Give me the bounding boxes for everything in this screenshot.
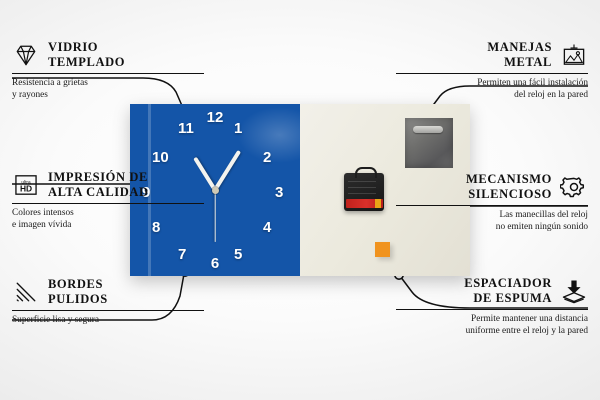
metal-hanger-plate [405, 118, 453, 168]
svg-text:HD: HD [20, 183, 32, 193]
mechanism-yellow-tab [375, 199, 381, 208]
clock-numeral: 5 [234, 247, 242, 262]
mechanism-detail [348, 180, 376, 194]
mechanism-hook [355, 167, 377, 178]
feature-manejas-metal: MANEJAS METAL Permiten una fácil instala… [396, 40, 588, 102]
feature-title: VIDRIO TEMPLADO [48, 40, 125, 70]
foam-spacer-arrow-icon [560, 278, 588, 304]
clock-numeral: 4 [263, 220, 271, 235]
gear-icon [560, 174, 588, 200]
clock-minute-hand [213, 150, 241, 191]
feature-bordes-pulidos: BORDES PULIDOS Superficie lisa y segura [12, 277, 204, 326]
feature-title: MECANISMO SILENCIOSO [466, 172, 552, 202]
clock-numeral: 12 [207, 110, 224, 125]
feature-description: Las manecillas del reloj no emiten ningú… [396, 206, 588, 234]
ultra-hd-badge-icon: ultra HD [12, 172, 40, 198]
clock-center-cap [212, 187, 219, 194]
clock-numeral: 6 [211, 256, 219, 271]
feature-title: ESPACIADOR DE ESPUMA [464, 276, 552, 306]
diamond-icon [12, 42, 40, 68]
clock-numeral: 2 [263, 150, 271, 165]
clock-numeral: 10 [152, 150, 169, 165]
clock-numeral: 7 [178, 247, 186, 262]
feature-impresion-alta-calidad: ultra HD IMPRESIÓN DE ALTA CALIDAD Color… [12, 170, 204, 232]
feature-mecanismo-silencioso: MECANISMO SILENCIOSO Las manecillas del … [396, 172, 588, 234]
clock-numeral: 3 [275, 185, 283, 200]
clock-second-hand [214, 190, 215, 242]
feature-title: IMPRESIÓN DE ALTA CALIDAD [48, 170, 149, 200]
feature-espaciador-espuma: ESPACIADOR DE ESPUMA Permite mantener un… [396, 276, 588, 338]
feature-description: Permiten una fácil instalación del reloj… [396, 74, 588, 102]
feature-title: MANEJAS METAL [487, 40, 552, 70]
feature-description: Superficie lisa y segura [12, 311, 204, 326]
wall-frame-hanger-icon [560, 42, 588, 68]
feature-vidrio-templado: VIDRIO TEMPLADO Resistencia a grietas y … [12, 40, 204, 102]
hanger-slot [413, 126, 443, 133]
feature-description: Permite mantener una distancia uniforme … [396, 310, 588, 338]
feature-description: Colores intensos e imagen vívida [12, 204, 204, 232]
silent-clock-mechanism [344, 173, 384, 211]
orange-foam-spacer [375, 242, 390, 257]
clock-numeral: 11 [178, 121, 194, 136]
clock-numeral: 1 [234, 121, 242, 136]
infographic-stage: 12 1 2 3 4 5 6 7 8 9 10 11 [0, 0, 600, 400]
feature-description: Resistencia a grietas y rayones [12, 74, 204, 102]
polished-edges-icon [12, 279, 40, 305]
feature-title: BORDES PULIDOS [48, 277, 108, 307]
